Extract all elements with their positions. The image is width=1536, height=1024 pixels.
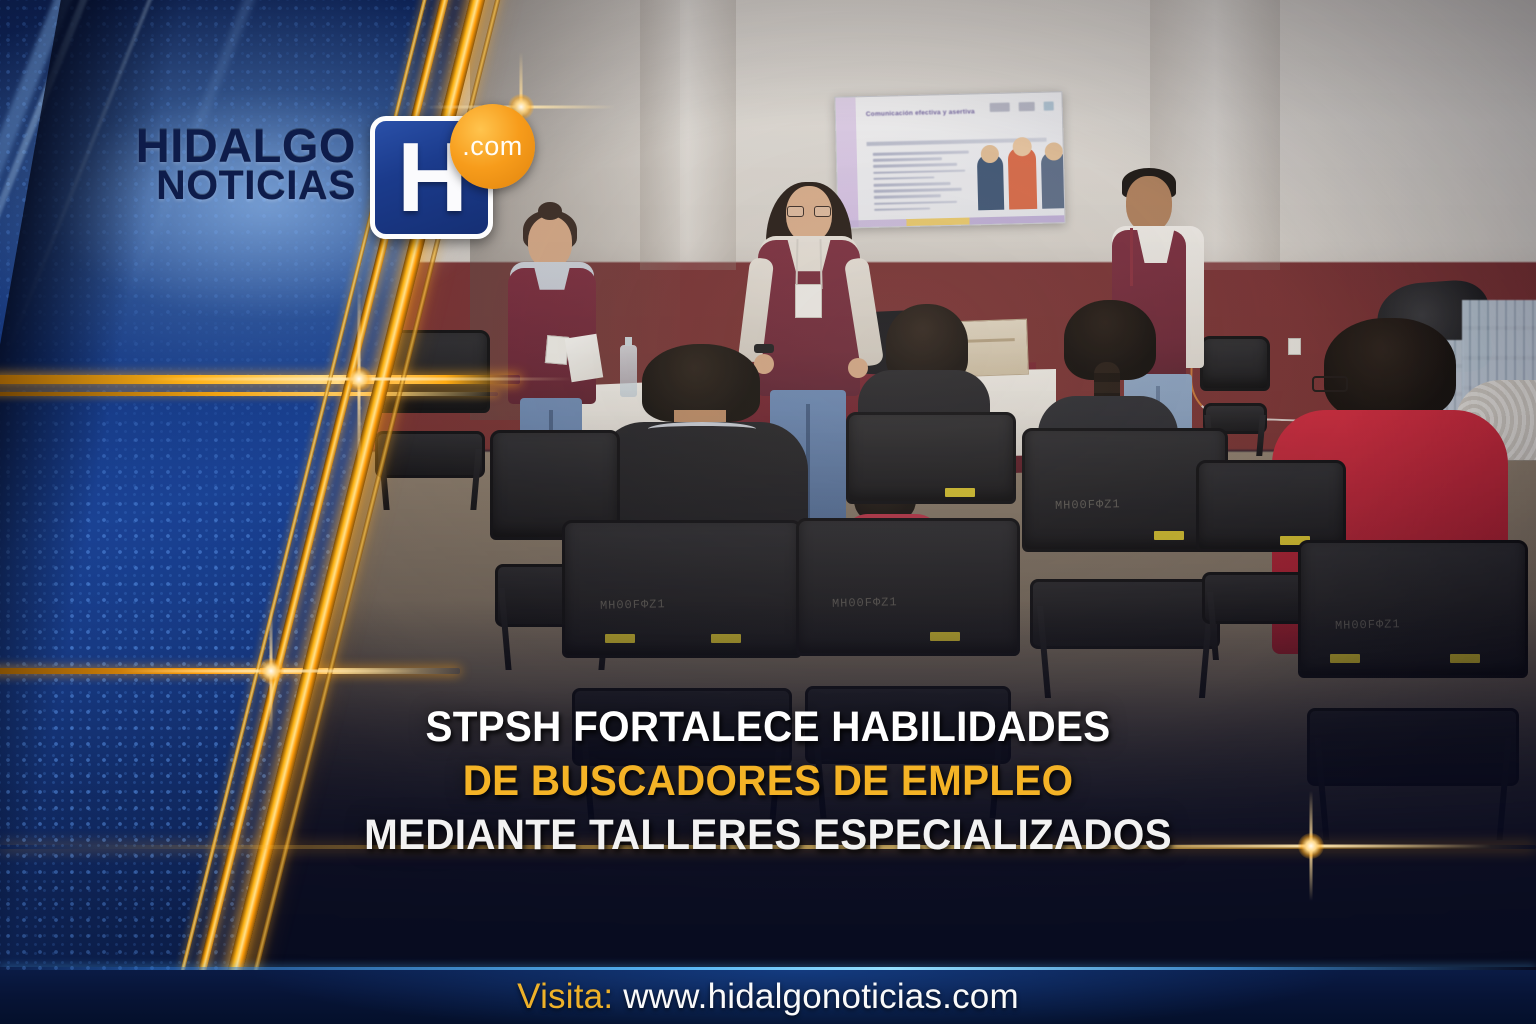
site-logo[interactable]: HIDALGO NOTICIAS H .com (108, 116, 538, 241)
logo-line-hidalgo: HIDALGO (108, 124, 356, 167)
news-graphic-card: Comunicación efectiva y asertiva (0, 0, 1536, 1024)
headline-line-1: STPSH FORTALECE HABILIDADES (46, 700, 1490, 754)
footer-prefix: Visita: (517, 977, 613, 1016)
headline: STPSH FORTALECE HABILIDADES DE BUSCADORE… (0, 700, 1536, 863)
footer-url[interactable]: www.hidalgonoticias.com (623, 977, 1019, 1016)
dotcom-label: .com (462, 131, 523, 162)
headline-line-3: MEDIANTE TALLERES ESPECIALIZADOS (46, 808, 1490, 862)
logo-line-noticias: NOTICIAS (108, 167, 356, 205)
footer-visit-text: Visita: www.hidalgonoticias.com (517, 977, 1019, 1017)
logo-wordmark: HIDALGO NOTICIAS (108, 124, 356, 205)
headline-line-2: DE BUSCADORES DE EMPLEO (46, 754, 1490, 808)
footer-bar: Visita: www.hidalgonoticias.com (0, 970, 1536, 1024)
dotcom-bubble-icon: .com (450, 104, 535, 189)
